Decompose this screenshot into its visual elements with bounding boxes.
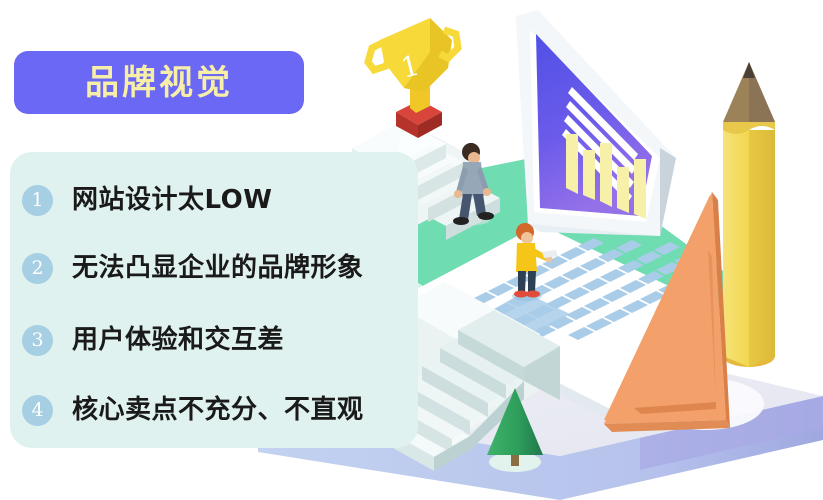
issue-row-4: 4 核心卖点不充分、不直观	[22, 390, 364, 430]
text-overlay: 品牌视觉 1 网站设计太LOW 2 无法凸显企业的品牌形象 3 用户体验和交互差…	[0, 0, 823, 500]
issue-label-1: 网站设计太LOW	[72, 187, 272, 213]
issue-label-4: 核心卖点不充分、不直观	[72, 397, 364, 423]
brand-badge-label: 品牌视觉	[85, 66, 233, 100]
issue-row-3: 3 用户体验和交互差	[22, 320, 284, 360]
brand-badge: 品牌视觉	[14, 51, 304, 114]
issue-row-1: 1 网站设计太LOW	[22, 180, 272, 220]
issue-label-3: 用户体验和交互差	[72, 327, 284, 353]
issue-label-2: 无法凸显企业的品牌形象	[72, 255, 364, 281]
screenshot-stage: 1	[0, 0, 823, 500]
issue-bullet-4: 4	[22, 395, 53, 426]
issue-row-2: 2 无法凸显企业的品牌形象	[22, 248, 364, 288]
issue-bullet-1: 1	[22, 185, 53, 216]
issue-bullet-2: 2	[22, 253, 53, 284]
issue-bullet-3: 3	[22, 325, 53, 356]
